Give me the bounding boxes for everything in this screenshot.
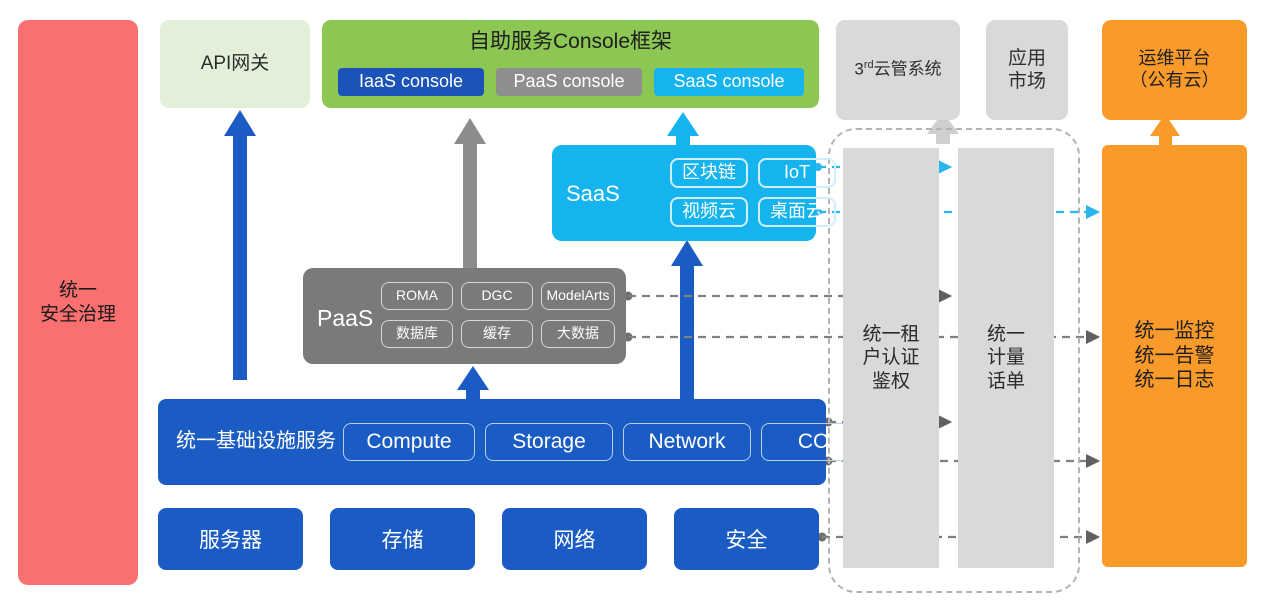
paas-chip-modelarts-label: ModelArts	[546, 287, 609, 304]
ops-monitoring-panel[interactable]: 统一监控 统一告警 统一日志	[1102, 145, 1247, 567]
paas-chip-modelarts[interactable]: ModelArts	[541, 282, 615, 310]
arrow-infra-to-saas	[671, 240, 703, 400]
iaas-console-label: IaaS console	[359, 71, 463, 93]
pillar-metering-billing[interactable]: 统一 计量 话单	[958, 148, 1054, 568]
paas-layer-box[interactable]: PaaS ROMA DGC ModelArts 数据库 缓存 大数据	[303, 268, 626, 364]
third-party-sup-num: 3	[854, 60, 863, 79]
ops-platform-label: 运维平台 （公有云）	[1130, 48, 1220, 92]
paas-chip-cache[interactable]: 缓存	[461, 320, 533, 348]
app-market-box[interactable]: 应用 市场	[986, 20, 1068, 120]
pillar-metering-billing-label: 统一 计量 话单	[987, 323, 1025, 393]
saas-chip-video-cloud[interactable]: 视频云	[670, 197, 748, 227]
hardware-storage-label: 存储	[382, 524, 424, 554]
infra-chip-network[interactable]: Network	[623, 423, 751, 461]
paas-chip-roma-label: ROMA	[396, 287, 438, 304]
console-framework-title: 自助服务Console框架	[322, 29, 819, 55]
saas-chip-iot[interactable]: IoT	[758, 158, 836, 188]
hardware-server-label: 服务器	[199, 524, 262, 554]
saas-chip-video-cloud-label: 视频云	[682, 201, 736, 223]
paas-console-chip[interactable]: PaaS console	[496, 68, 642, 96]
third-party-sup-text: rd	[864, 59, 874, 71]
infra-chip-network-label: Network	[648, 429, 725, 455]
infrastructure-layer-label: 统一基础设施服务	[176, 429, 336, 453]
paas-chip-roma[interactable]: ROMA	[381, 282, 453, 310]
paas-console-label: PaaS console	[513, 71, 624, 93]
console-framework-box[interactable]: 自助服务Console框架 IaaS console PaaS console …	[322, 20, 819, 108]
paas-layer-label: PaaS	[317, 304, 373, 332]
arrow-saas-to-console	[667, 112, 699, 148]
api-gateway-box[interactable]: API网关	[160, 20, 310, 108]
pillar-tenant-auth-label: 统一租 户认证 鉴权	[862, 323, 919, 393]
infra-chip-cce-label: CCE	[798, 429, 842, 455]
saas-chip-blockchain[interactable]: 区块链	[670, 158, 748, 188]
hardware-box-security[interactable]: 安全	[674, 508, 819, 570]
saas-console-label: SaaS console	[673, 71, 784, 93]
paas-chip-bigdata[interactable]: 大数据	[541, 320, 615, 348]
hardware-box-network[interactable]: 网络	[502, 508, 647, 570]
paas-chip-database[interactable]: 数据库	[381, 320, 453, 348]
saas-chip-iot-label: IoT	[784, 162, 810, 184]
hardware-security-label: 安全	[726, 524, 768, 554]
third-party-cloud-mgmt-box[interactable]: 3rd云管系统	[836, 20, 960, 120]
hardware-box-server[interactable]: 服务器	[158, 508, 303, 570]
saas-chip-blockchain-label: 区块链	[682, 162, 736, 184]
ops-monitoring-label: 统一监控 统一告警 统一日志	[1135, 319, 1215, 392]
paas-chip-bigdata-label: 大数据	[557, 325, 599, 342]
hardware-network-label: 网络	[554, 524, 596, 554]
ops-platform-box[interactable]: 运维平台 （公有云）	[1102, 20, 1247, 120]
arrow-infra-to-paas	[457, 366, 489, 400]
paas-chip-dgc[interactable]: DGC	[461, 282, 533, 310]
arrow-paas-to-console	[454, 118, 486, 268]
saas-console-chip[interactable]: SaaS console	[654, 68, 804, 96]
paas-chip-cache-label: 缓存	[483, 325, 511, 342]
saas-layer-label: SaaS	[566, 181, 620, 208]
security-governance-panel[interactable]: 统一 安全治理	[18, 20, 138, 585]
paas-chip-database-label: 数据库	[396, 325, 438, 342]
infra-chip-compute[interactable]: Compute	[343, 423, 475, 461]
infra-chip-compute-label: Compute	[366, 429, 451, 455]
security-governance-label: 统一 安全治理	[40, 279, 116, 325]
infra-chip-storage[interactable]: Storage	[485, 423, 613, 461]
iaas-console-chip[interactable]: IaaS console	[338, 68, 484, 96]
arrow-infra-to-api-gateway	[224, 110, 256, 380]
third-party-label: 3rd云管系统	[854, 59, 941, 80]
api-gateway-label: API网关	[201, 52, 270, 75]
paas-chip-dgc-label: DGC	[481, 287, 512, 304]
saas-chip-desktop-cloud[interactable]: 桌面云	[758, 197, 836, 227]
saas-layer-box[interactable]: SaaS 区块链 IoT 视频云 桌面云	[552, 145, 816, 241]
infrastructure-layer-box[interactable]: 统一基础设施服务 Compute Storage Network CCE	[158, 399, 826, 485]
app-market-label: 应用 市场	[1008, 47, 1046, 93]
infra-chip-storage-label: Storage	[512, 429, 586, 455]
third-party-rest: 云管系统	[874, 60, 942, 79]
pillar-tenant-auth[interactable]: 统一租 户认证 鉴权	[843, 148, 939, 568]
hardware-box-storage[interactable]: 存储	[330, 508, 475, 570]
saas-chip-desktop-cloud-label: 桌面云	[770, 201, 824, 223]
